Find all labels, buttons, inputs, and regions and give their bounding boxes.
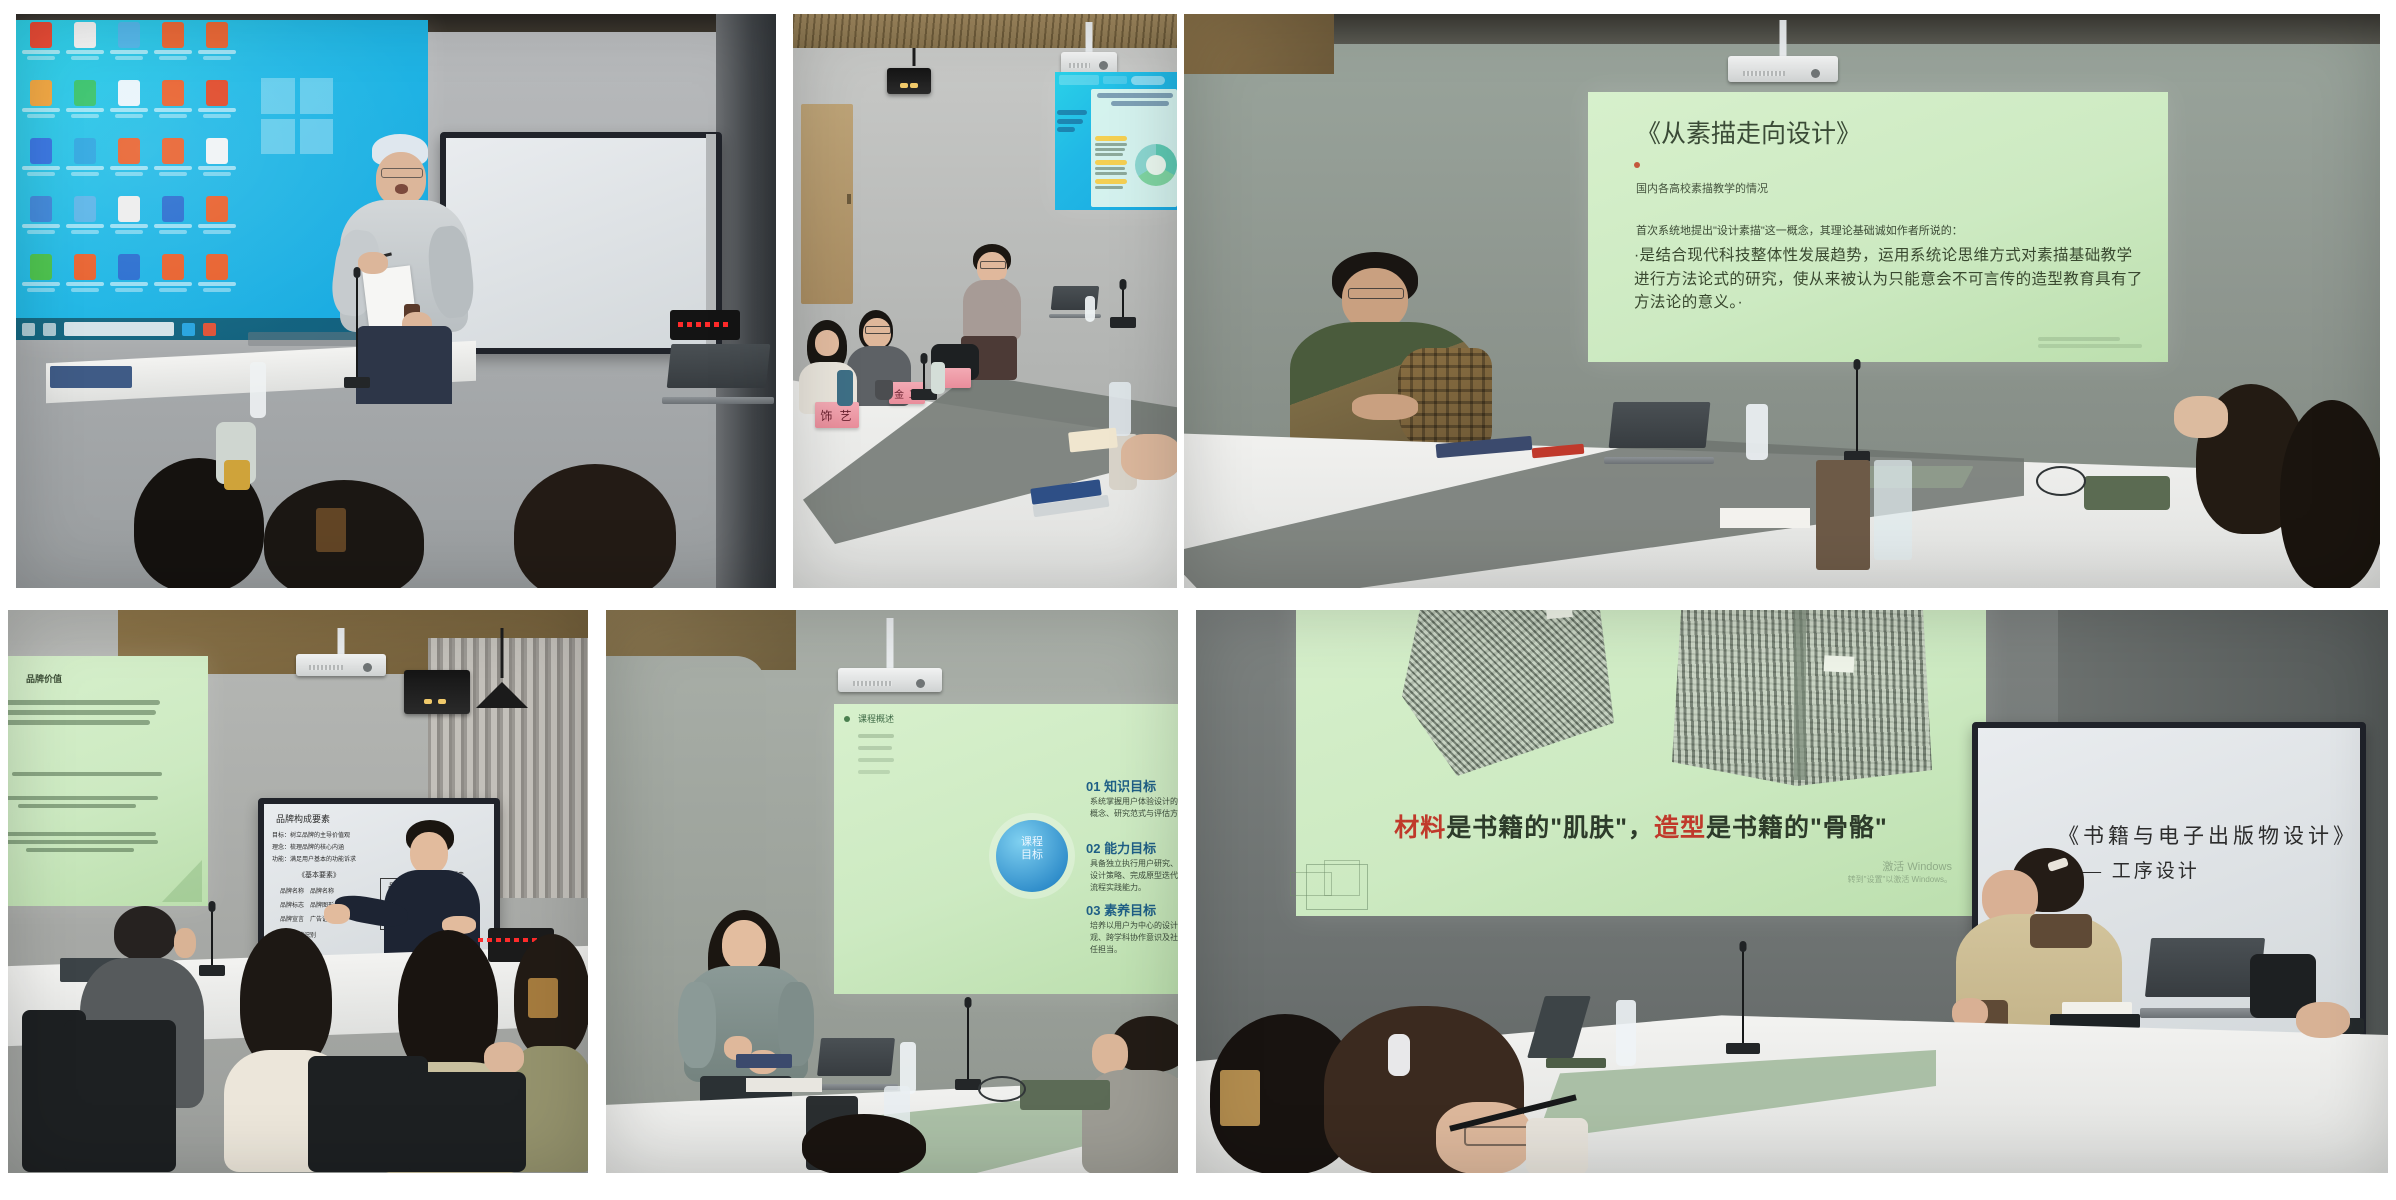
- cable-loop: [2036, 466, 2086, 496]
- wood-ceiling: [1184, 14, 1334, 74]
- desktop-icon[interactable]: [198, 80, 236, 132]
- glasses-icon: [980, 261, 1006, 269]
- course-goal-label: 课程 目标: [1004, 836, 1060, 862]
- door: [801, 104, 853, 304]
- edge-icon[interactable]: [182, 323, 195, 336]
- cable: [1546, 1058, 1606, 1068]
- desktop-icon[interactable]: [22, 22, 60, 74]
- head: [1342, 268, 1408, 330]
- mouth: [395, 184, 408, 194]
- book-texture-image-left: [1402, 610, 1614, 776]
- slide-heading: 品牌价值: [26, 672, 62, 685]
- head: [376, 152, 426, 206]
- water-bottle-icon: [1746, 404, 1768, 460]
- desktop-icon[interactable]: [110, 22, 148, 74]
- photo-panel-5[interactable]: 课程概述 课程 目标 01 知识目标 系统掌握用户体验设计的核心概念、研究范式与…: [606, 610, 1178, 1173]
- microphone-icon: [1111, 284, 1135, 328]
- desktop-icon[interactable]: [198, 22, 236, 74]
- tumbler: [837, 370, 853, 406]
- slide-title: [1059, 75, 1099, 85]
- slide-decoration: [1290, 872, 1332, 896]
- whiteboard-line-1: 《书籍与电子出版物设计》: [2058, 820, 2358, 850]
- tea-cup: [224, 460, 250, 490]
- slide-subtitle: 国内各高校素描教学的情况: [1636, 180, 1768, 196]
- desktop-icon[interactable]: [154, 254, 192, 306]
- slide-watermark: [2038, 337, 2148, 348]
- papers: [1720, 508, 1810, 528]
- slide-lead: 首次系统地提出"设计素描"这一概念，其理论基础诚如作者所说的：: [1636, 222, 1963, 238]
- chair: [64, 1020, 176, 1172]
- microphone-icon: [344, 272, 370, 388]
- desktop-icon[interactable]: [154, 138, 192, 190]
- slide-taste-line: [8, 796, 162, 808]
- tumbler: [931, 362, 945, 394]
- hair: [240, 928, 332, 1070]
- objective-title: 03 素养目标: [1086, 900, 1156, 919]
- desktop-icon[interactable]: [154, 196, 192, 248]
- hair-clip-icon: [528, 978, 558, 1018]
- glass-tumbler: [1874, 460, 1912, 560]
- slide-tab-2: [1131, 76, 1165, 85]
- microphone-icon: [954, 1002, 982, 1090]
- microphone-icon: [1842, 364, 1872, 462]
- desktop-icon[interactable]: [22, 138, 60, 190]
- browser-icon[interactable]: [203, 323, 216, 336]
- coffee-cup: [875, 380, 893, 400]
- slide-audience-line: [8, 772, 162, 776]
- whiteboard-cell: 品牌名称 品牌名称: [280, 886, 334, 895]
- caption-plain-2: 是书籍的"骨骼": [1706, 814, 1888, 842]
- laptop-screen-reflection: [50, 366, 132, 388]
- face-profile: [174, 928, 196, 958]
- objective-title: 01 知识目标: [1086, 776, 1156, 795]
- desktop-icon[interactable]: [154, 80, 192, 132]
- audience-person: [1324, 1006, 1544, 1173]
- desktop-icon[interactable]: [110, 254, 148, 306]
- objective-text: 系统掌握用户体验设计的核心概念、研究范式与评估方法。: [1090, 796, 1178, 820]
- glasses-icon: [1348, 288, 1404, 299]
- caption-plain-1: 是书籍的"肌肤"，: [1446, 814, 1654, 842]
- book-spine-right: [1794, 610, 1806, 780]
- speaker-icon: [887, 68, 931, 94]
- hair-clip-icon: [316, 508, 346, 552]
- caption-highlight-2: 造型: [1654, 814, 1706, 842]
- caption-highlight-1: 材料: [1394, 814, 1446, 842]
- whiteboard-row: 目标：树立品牌的主导价值观: [272, 830, 350, 839]
- name-tent: 饰 艺: [815, 402, 859, 428]
- desktop-icon[interactable]: [154, 22, 192, 74]
- head: [410, 832, 448, 874]
- head: [722, 920, 766, 970]
- projector-icon: [296, 628, 386, 676]
- slide-nav-list: [858, 734, 898, 774]
- speaker-icon: [404, 670, 470, 714]
- head: [815, 330, 839, 356]
- whiteboard-row: 理念：梳理品牌的核心内涵: [272, 842, 344, 851]
- microphone-icon: [1726, 946, 1760, 1054]
- desktop-icon[interactable]: [110, 80, 148, 132]
- photo-panel-4[interactable]: 品牌价值 品牌构成要素 目标：树立品牌的主导价值观: [8, 610, 588, 1173]
- laptop-icon: [1604, 402, 1714, 464]
- laptop-icon: [662, 344, 774, 404]
- wall-column: [716, 14, 776, 588]
- audience-head: [2280, 400, 2380, 588]
- hand: [1121, 434, 1177, 480]
- water-bottle-icon: [1616, 1000, 1636, 1066]
- led-indicators: [678, 322, 732, 327]
- slide-caption: 材料是书籍的"肌肤"，造型是书籍的"骨骼": [1296, 808, 1986, 844]
- whiteboard-row: 功能：满足用户基本的功能诉求: [272, 854, 356, 863]
- photo-panel-1[interactable]: [16, 14, 776, 588]
- laptop-icon: [2084, 476, 2170, 510]
- desktop-icon[interactable]: [66, 22, 104, 74]
- desktop-icon-grid[interactable]: [22, 22, 236, 306]
- objective-title: 02 能力目标: [1086, 838, 1156, 857]
- desktop-icon[interactable]: [66, 138, 104, 190]
- objective-text: 培养以用户为中心的设计伦理观、跨学科协作意识及社会责任担当。: [1090, 920, 1178, 956]
- bullet-dot: [1634, 162, 1640, 168]
- notebook: [736, 1054, 792, 1068]
- hair: [114, 906, 176, 960]
- slide-heading: [1097, 93, 1175, 106]
- hand: [324, 904, 350, 924]
- glasses-icon: [381, 168, 423, 178]
- glasses-icon: [1464, 1126, 1534, 1146]
- projection-screen-slide: 《从素描走向设计》 国内各高校素描教学的情况 首次系统地提出"设计素描"这一概念…: [1588, 92, 2168, 362]
- projection-screen-slide: 品牌价值: [8, 656, 208, 906]
- hair-clip-icon: [1388, 1034, 1410, 1076]
- slide-sidebar: [1057, 110, 1089, 150]
- photo-panel-6[interactable]: 材料是书籍的"肌肤"，造型是书籍的"骨骼" 激活 Windows 转到"设置"以…: [1196, 610, 2388, 1173]
- desktop-icon[interactable]: [22, 80, 60, 132]
- chair: [408, 1072, 526, 1172]
- pendant-lamp-icon: [476, 628, 528, 708]
- glasses-icon: [865, 326, 891, 334]
- water-bottle-icon: [250, 362, 266, 418]
- slide-goal-list: [1095, 136, 1129, 189]
- start-icon[interactable]: [22, 323, 35, 336]
- windows-logo-icon: [261, 78, 333, 154]
- face-profile: [1092, 1034, 1128, 1074]
- door-handle-icon: [847, 194, 851, 204]
- desktop-icon[interactable]: [66, 254, 104, 306]
- slide-decoration: [162, 860, 202, 902]
- desktop-icon[interactable]: [198, 196, 236, 248]
- laptop-icon: [1020, 1080, 1110, 1110]
- hand: [484, 1042, 524, 1074]
- desktop-icon[interactable]: [66, 80, 104, 132]
- objective-text: 具备独立执行用户研究、构建设计策略、完成原型迭代的全流程实践能力。: [1090, 858, 1178, 894]
- wood-ceiling: [793, 14, 1177, 48]
- arm-left: [678, 982, 716, 1068]
- search-input[interactable]: [64, 322, 174, 336]
- projector-icon: [1728, 20, 1838, 82]
- donut-center: [1146, 155, 1166, 175]
- whiteboard-cell: 品牌宣言 广告语: [280, 914, 328, 923]
- projection-screen-slide: [1055, 72, 1177, 210]
- legs: [356, 326, 452, 404]
- water-bottle-icon: [1085, 296, 1095, 322]
- hand-left: [358, 252, 388, 274]
- bullet-dot: [844, 716, 850, 722]
- desktop-icon[interactable]: [198, 138, 236, 190]
- name-tent: [941, 368, 971, 388]
- desktop-icon[interactable]: [22, 254, 60, 306]
- bag: [1816, 460, 1870, 570]
- photo-panel-3[interactable]: 《从素描走向设计》 国内各高校素描教学的情况 首次系统地提出"设计素描"这一概念…: [1184, 14, 2380, 588]
- whiteboard-table-header: 《基本要素》: [298, 870, 340, 880]
- audience-head: [802, 1114, 926, 1173]
- slide-nav-active: 课程概述: [858, 712, 894, 725]
- cable-loop: [978, 1076, 1026, 1102]
- presenter: [684, 910, 808, 1102]
- slide-body-text: [8, 700, 162, 730]
- desktop-icon[interactable]: [66, 196, 104, 248]
- photo-panel-2[interactable]: 饰 艺 金 工: [793, 14, 1177, 588]
- audience-face: [2174, 396, 2228, 438]
- windows-activation-watermark: 激活 Windows 转到"设置"以激活 Windows。: [1848, 860, 1952, 886]
- tumbler: [1526, 1118, 1588, 1173]
- laptop-icon: [814, 1038, 898, 1090]
- hand: [2296, 1002, 2350, 1038]
- whiteboard-title: 品牌构成要素: [276, 812, 330, 825]
- presenter: [1288, 252, 1504, 452]
- slide-title: 《从素描走向设计》: [1636, 114, 1861, 150]
- photo-collage: 饰 艺 金 工: [0, 0, 2396, 1200]
- hair-clip-icon: [1220, 1070, 1260, 1126]
- slide-body: ·是结合现代科技整体性发展趋势，运用系统论思维方式对素描基础教学进行方法论式的研…: [1634, 244, 2144, 315]
- desktop-icon[interactable]: [110, 138, 148, 190]
- task-view-icon[interactable]: [43, 323, 56, 336]
- projector-icon: [838, 618, 942, 692]
- projector-icon: [1061, 22, 1117, 74]
- paper: [746, 1078, 822, 1092]
- projection-screen-slide: 课程概述 课程 目标 01 知识目标 系统掌握用户体验设计的核心概念、研究范式与…: [834, 704, 1178, 994]
- desktop-icon[interactable]: [198, 254, 236, 306]
- projection-screen-slide: 材料是书籍的"肌肤"，造型是书籍的"骨骼" 激活 Windows 转到"设置"以…: [1296, 610, 1986, 916]
- slide-tab-1: [1103, 76, 1127, 84]
- jacket-shoulder-panel: [2030, 914, 2092, 948]
- book-label-right: [1824, 655, 1855, 673]
- desktop-icon[interactable]: [22, 196, 60, 248]
- slide-service-line: [8, 832, 162, 852]
- crossed-arms: [1352, 394, 1418, 420]
- desktop-icon[interactable]: [110, 196, 148, 248]
